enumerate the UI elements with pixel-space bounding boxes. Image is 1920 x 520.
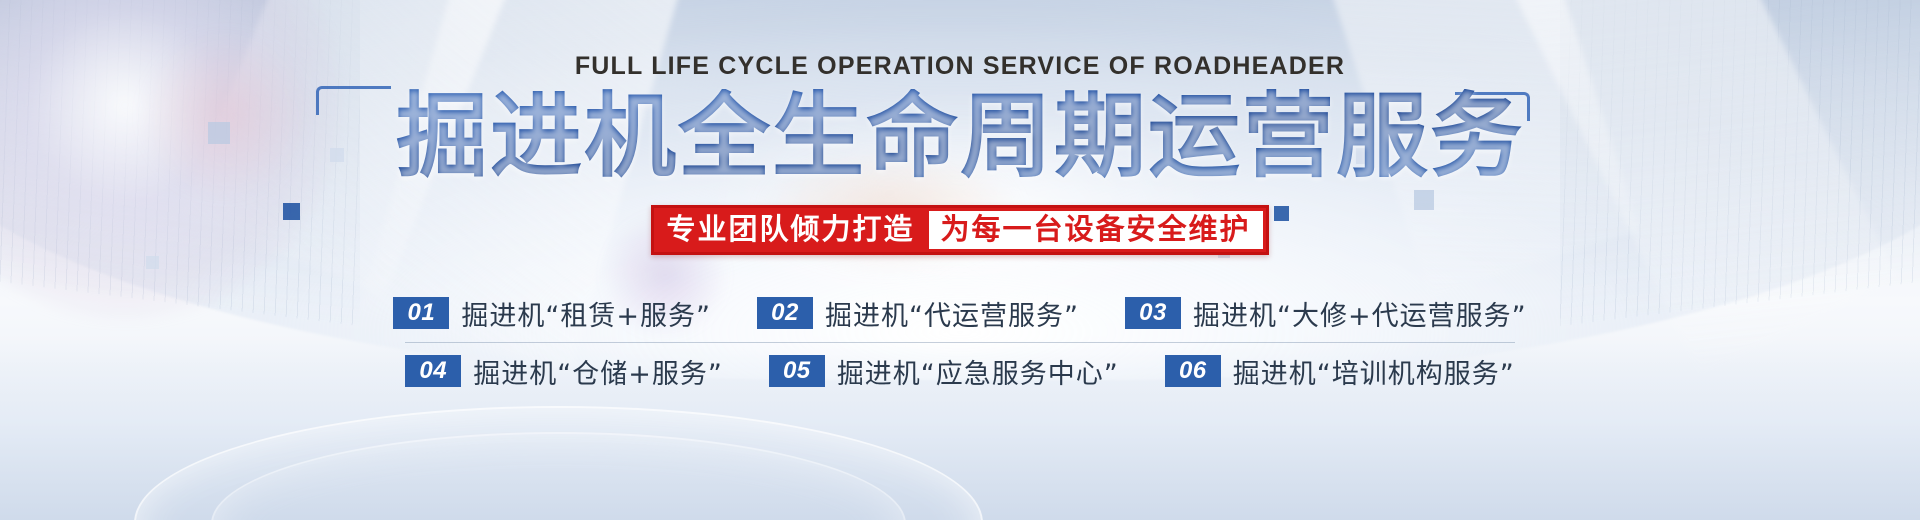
service-list: 01 掘进机“租赁+服务” 02 掘进机“代运营服务” 03 掘进机“大修+代运…	[393, 285, 1526, 400]
banner-tagline-strip: 专业团队倾力打造 为每一台设备安全维护	[651, 205, 1268, 255]
service-number-badge: 01	[393, 297, 449, 329]
banner-title-chinese: 掘进机全生命周期运营服务	[396, 89, 1524, 185]
service-item-04[interactable]: 04 掘进机“仓储+服务”	[405, 352, 723, 391]
service-row-top: 01 掘进机“租赁+服务” 02 掘进机“代运营服务” 03 掘进机“大修+代运…	[393, 285, 1526, 342]
tagline-right-text: 为每一台设备安全维护	[929, 211, 1263, 249]
service-item-label: 掘进机“租赁+服务”	[461, 294, 711, 333]
service-item-01[interactable]: 01 掘进机“租赁+服务”	[393, 294, 711, 333]
service-number-badge: 04	[405, 355, 461, 387]
service-item-label: 掘进机“代运营服务”	[825, 294, 1079, 333]
service-number-badge: 05	[769, 355, 825, 387]
service-item-label: 掘进机“培训机构服务”	[1233, 352, 1515, 391]
service-item-05[interactable]: 05 掘进机“应急服务中心”	[769, 352, 1119, 391]
banner-content: FULL LIFE CYCLE OPERATION SERVICE OF ROA…	[0, 0, 1920, 520]
service-item-03[interactable]: 03 掘进机“大修+代运营服务”	[1125, 294, 1527, 333]
service-item-label: 掘进机“仓储+服务”	[473, 352, 723, 391]
service-number-badge: 03	[1125, 297, 1181, 329]
service-number-badge: 02	[757, 297, 813, 329]
roadheader-service-banner: FULL LIFE CYCLE OPERATION SERVICE OF ROA…	[0, 0, 1920, 520]
banner-subtitle-english: FULL LIFE CYCLE OPERATION SERVICE OF ROA…	[575, 52, 1345, 81]
service-item-label: 掘进机“应急服务中心”	[837, 352, 1119, 391]
service-item-label: 掘进机“大修+代运营服务”	[1193, 294, 1527, 333]
service-row-bottom: 04 掘进机“仓储+服务” 05 掘进机“应急服务中心” 06 掘进机“培训机构…	[405, 342, 1515, 400]
service-item-02[interactable]: 02 掘进机“代运营服务”	[757, 294, 1079, 333]
service-number-badge: 06	[1165, 355, 1221, 387]
tagline-left-text: 专业团队倾力打造	[654, 208, 926, 252]
service-item-06[interactable]: 06 掘进机“培训机构服务”	[1165, 352, 1515, 391]
